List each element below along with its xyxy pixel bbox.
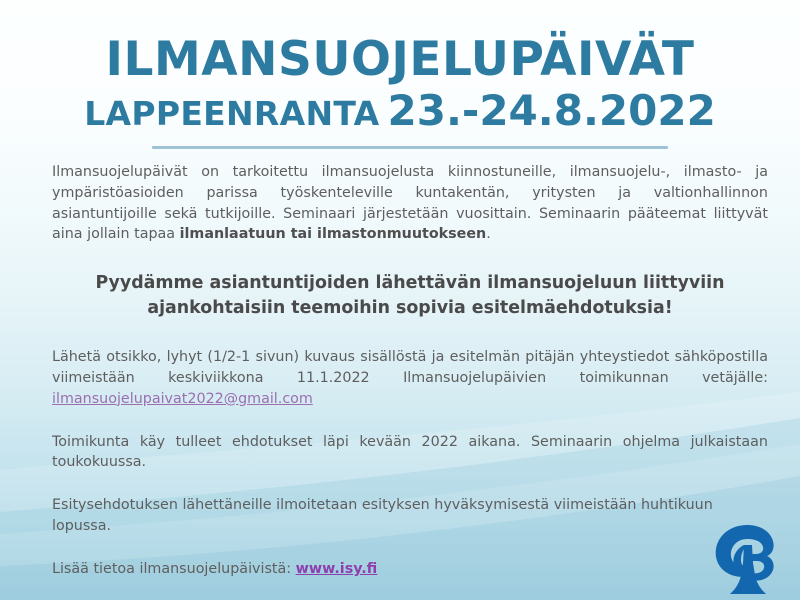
review-paragraph: Toimikunta käy tulleet ehdotukset läpi k… [52,432,768,474]
website-link[interactable]: www.isy.fi [296,561,378,577]
notification-paragraph: Esitysehdotuksen lähettäneille ilmoiteta… [52,495,768,537]
subtitle-line: LAPPEENRANTA23.-24.8.2022 [0,90,800,132]
spacer [52,410,768,432]
spacer [52,321,768,347]
email-link[interactable]: ilmansuojelupaivat2022@gmail.com [52,391,313,407]
body-content: Ilmansuojelupäivät on tarkoitettu ilmans… [52,162,768,580]
title-divider [152,146,668,149]
submission-paragraph: Lähetä otsikko, lyhyt (1/2-1 sivun) kuva… [52,347,768,409]
intro-paragraph: Ilmansuojelupäivät on tarkoitettu ilmans… [52,162,768,245]
intro-text-after-bold: . [486,226,491,242]
slide-canvas: ILMANSUOJELUPÄIVÄT LAPPEENRANTA23.-24.8.… [0,0,800,600]
more-info-paragraph: Lisää tietoa ilmansuojelupäivistä: www.i… [52,559,768,580]
intro-bold-phrase: ilmanlaatuun tai ilmastonmuutokseen [180,226,487,242]
spacer [52,473,768,495]
submission-text: Lähetä otsikko, lyhyt (1/2-1 sivun) kuva… [52,349,768,386]
page-title: ILMANSUOJELUPÄIVÄT [0,36,800,84]
more-info-text: Lisää tietoa ilmansuojelupäivistä: [52,561,296,577]
title-block: ILMANSUOJELUPÄIVÄT LAPPEENRANTA23.-24.8.… [0,36,800,132]
spacer [52,245,768,271]
subtitle-city: LAPPEENRANTA [84,94,379,133]
spacer [52,537,768,559]
isy-tree-logo-icon [706,523,790,600]
highlight-paragraph: Pyydämme asiantuntijoiden lähettävän ilm… [52,271,768,321]
subtitle-date: 23.-24.8.2022 [388,86,716,135]
